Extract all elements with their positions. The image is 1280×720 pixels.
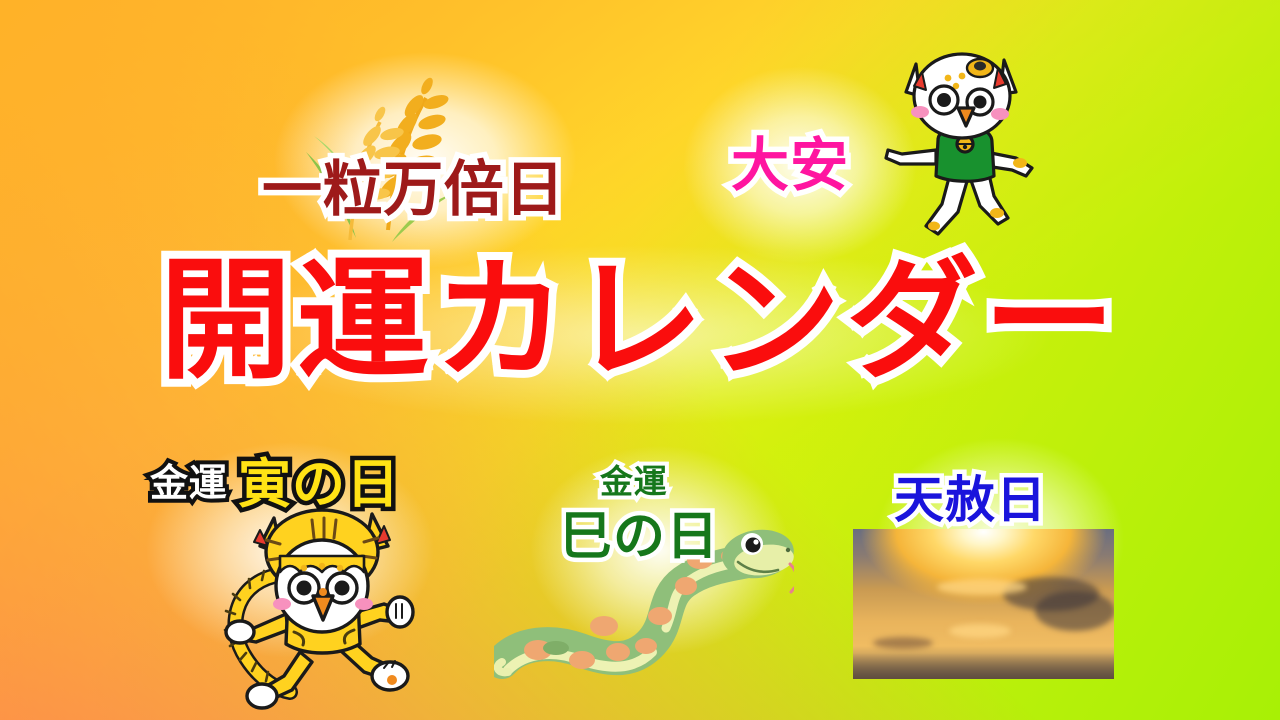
badge-label-taian: 大安	[731, 118, 849, 202]
page-title: 開運カレンダー	[160, 255, 1121, 387]
poster-canvas: 一粒万倍日 大安 開運カレンダー 金運 寅の日 金運 巳の日 天赦日	[0, 0, 1280, 720]
cat-mascot-icon	[876, 46, 1056, 242]
badge-label-tensha-nichi: 天赦日	[894, 460, 1047, 532]
badge-label-tora-no-hi: 寅の日	[238, 442, 400, 518]
tiger-cat-mascot-icon	[212, 500, 430, 720]
sunburst-sky-photo	[853, 529, 1114, 679]
badge-label-mi-no-hi: 巳の日	[560, 494, 719, 569]
badge-label-ichiryu-manbai: 一粒万倍日	[262, 141, 565, 228]
badge-prefix-tora-kinun: 金運	[150, 452, 228, 507]
